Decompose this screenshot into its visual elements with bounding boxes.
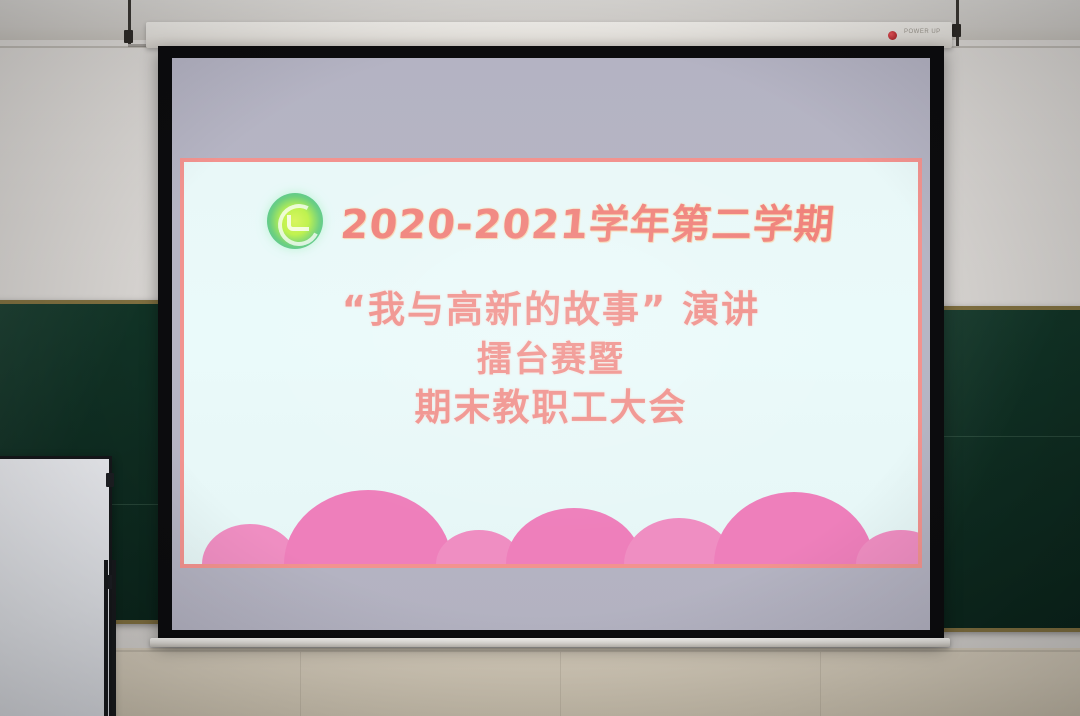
whiteboard-leg <box>104 560 108 716</box>
wall-vertical-seam <box>560 652 561 716</box>
hill-shape <box>284 490 452 564</box>
slide-title-block: “我与高新的故事” 演讲 擂台赛暨 期末教职工大会 <box>184 287 918 431</box>
blackboard-sheen <box>932 310 1080 628</box>
whiteboard-clip-icon <box>106 473 114 487</box>
right-blackboard <box>928 306 1080 632</box>
housing-label: POWER UP <box>904 29 941 36</box>
slide-title-line-3: 期末教职工大会 <box>184 385 918 431</box>
screen-weight-bar <box>150 638 950 647</box>
screen-mount-bracket <box>952 24 961 37</box>
slide-title-line-1: “我与高新的故事” 演讲 <box>184 287 918 333</box>
power-led-icon <box>888 31 897 40</box>
projection-screen-frame: 2020-2021学年第二学期 “我与高新的故事” 演讲 擂台赛暨 期末教职工大… <box>158 46 944 642</box>
portable-whiteboard <box>0 456 112 716</box>
slide-year-text: 2020-2021学年第二学期 <box>338 192 837 250</box>
classroom-scene: POWER UP 2020-2021学年第二学期 “我与高新的故事” 演讲 擂台… <box>0 0 1080 716</box>
hill-shape <box>506 508 642 564</box>
blackboard-chalk-line <box>932 436 1080 437</box>
presentation-slide[interactable]: 2020-2021学年第二学期 “我与高新的故事” 演讲 擂台赛暨 期末教职工大… <box>180 158 922 568</box>
wall-vertical-seam <box>300 652 301 716</box>
slide-content-area: 2020-2021学年第二学期 “我与高新的故事” 演讲 擂台赛暨 期末教职工大… <box>184 162 918 564</box>
decorative-hills <box>184 468 918 564</box>
screen-mount-bracket <box>124 30 133 43</box>
screen-mount-cable <box>956 0 959 46</box>
slide-title-line-2: 擂台赛暨 <box>184 337 918 383</box>
wall-lower-dado <box>0 648 1080 716</box>
wall-seam-bottom <box>0 650 1080 652</box>
slide-header: 2020-2021学年第二学期 <box>184 192 918 250</box>
whiteboard-leg <box>112 560 116 716</box>
school-emblem-logo <box>267 193 323 249</box>
projection-screen-surface[interactable]: 2020-2021学年第二学期 “我与高新的故事” 演讲 擂台赛暨 期末教职工大… <box>172 58 930 630</box>
projection-screen-housing[interactable]: POWER UP <box>146 22 952 48</box>
hill-shape <box>714 492 874 564</box>
wall-vertical-seam <box>820 652 821 716</box>
